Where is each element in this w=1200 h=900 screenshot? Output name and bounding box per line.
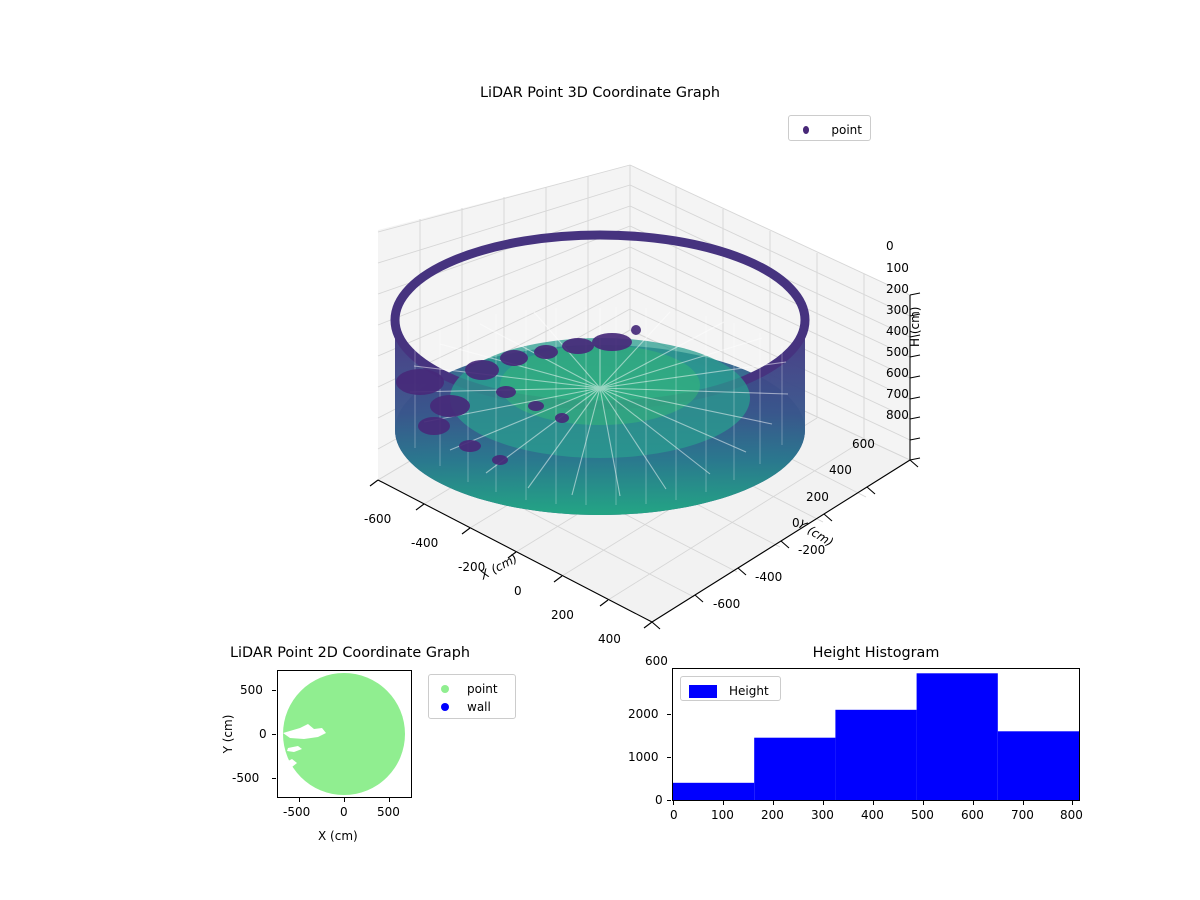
plot2d-xtick: -500: [283, 805, 310, 819]
plot3d-ytick: 600: [852, 437, 875, 451]
histogram-bar: [998, 731, 1079, 800]
plot2d-ytickmark: [272, 734, 276, 735]
histogram-title: Height Histogram: [672, 645, 1080, 661]
plot3d-htick: 700: [886, 387, 909, 401]
plot3d-xtick: -400: [411, 536, 438, 550]
histogram-bar: [917, 673, 998, 800]
histogram-xtick: 300: [811, 808, 834, 822]
plot2d-xtick: 500: [377, 805, 400, 819]
plot3d-htick: 200: [886, 282, 909, 296]
plot3d-xtick: 0: [514, 584, 522, 598]
plot2d-canvas: [278, 671, 411, 797]
plot2d-legend[interactable]: point wall: [428, 674, 516, 719]
plot2d-ytick: -500: [232, 771, 259, 785]
height-patch-icon: [689, 685, 717, 698]
histogram-xtickmark: [773, 801, 774, 805]
histogram-xtick: 200: [761, 808, 784, 822]
histogram-xtick: 600: [961, 808, 984, 822]
histogram-xtick: 500: [911, 808, 934, 822]
histogram-xtick: 0: [670, 808, 678, 822]
plot3d-canvas: [300, 130, 940, 630]
histogram-ytick: 2000: [628, 707, 659, 721]
histogram-ytickmark: [667, 757, 671, 758]
plot2d-xtickmark: [344, 798, 345, 802]
histogram-xtickmark: [723, 801, 724, 805]
histogram-legend[interactable]: Height: [680, 676, 781, 701]
plot3d-xtick: 200: [551, 608, 574, 622]
histogram-ytick: 0: [655, 793, 663, 807]
plot2d-title: LiDAR Point 2D Coordinate Graph: [205, 645, 495, 661]
plot2d-ylabel: Y (cm): [221, 709, 235, 759]
histogram-bar: [835, 710, 916, 800]
plot2d-xtick: 0: [340, 805, 348, 819]
matplotlib-figure: LiDAR Point 3D Coordinate Graph point: [0, 0, 1200, 900]
plot3d-ytick: -400: [755, 570, 782, 584]
plot3d-ytick: 400: [829, 463, 852, 477]
plot3d-htick: 300: [886, 303, 909, 317]
plot3d-ytick: -600: [713, 597, 740, 611]
plot3d-htick: 800: [886, 408, 909, 422]
histogram-xtickmark: [1023, 801, 1024, 805]
plot3d-xtick: 600: [645, 654, 668, 668]
histogram-xtick: 100: [711, 808, 734, 822]
plot3d-xtick: -600: [364, 512, 391, 526]
plot3d-htick: 100: [886, 261, 909, 275]
plot2d-ytick: 0: [259, 727, 267, 741]
plot3d-htick: 600: [886, 366, 909, 380]
plot3d-ytick: 200: [806, 490, 829, 504]
histogram-bar: [754, 738, 835, 800]
legend-item-wall: wall: [437, 698, 507, 716]
histogram-ytickmark: [667, 714, 671, 715]
plot2d-xlabel: X (cm): [318, 829, 358, 843]
point-marker-icon: [441, 685, 449, 693]
histogram-xtick: 700: [1011, 808, 1034, 822]
plot3d-xtick: 400: [598, 632, 621, 646]
legend-label: point: [467, 682, 498, 696]
histogram-xtick: 400: [861, 808, 884, 822]
plot3d-title: LiDAR Point 3D Coordinate Graph: [0, 85, 1200, 101]
plot2d-xtickmark: [299, 798, 300, 802]
histogram-xtickmark: [823, 801, 824, 805]
plot2d-axes[interactable]: [277, 670, 412, 798]
histogram-xtickmark: [973, 801, 974, 805]
legend-label: wall: [467, 700, 491, 714]
histogram-bar: [673, 783, 754, 800]
legend-label: Height: [729, 684, 769, 698]
plot3d-htick: 0: [886, 239, 894, 253]
histogram-xtickmark: [873, 801, 874, 805]
legend-item-point: point: [437, 680, 507, 698]
plot2d-xtickmark: [389, 798, 390, 802]
plot3d-axes[interactable]: [300, 130, 940, 630]
wall-marker-icon: [441, 703, 449, 711]
histogram-xtick: 800: [1060, 808, 1083, 822]
histogram-ytickmark: [667, 800, 671, 801]
legend-item-height: Height: [689, 682, 772, 700]
plot2d-ytickmark: [272, 690, 276, 691]
histogram-xtickmark: [1072, 801, 1073, 805]
plot3d-hlabel: H (cm): [908, 307, 922, 347]
histogram-xtickmark: [923, 801, 924, 805]
plot2d-ytickmark: [272, 778, 276, 779]
histogram-ytick: 1000: [628, 750, 659, 764]
plot3d-htick: 500: [886, 345, 909, 359]
histogram-xtickmark: [673, 801, 674, 805]
plot3d-htick: 400: [886, 324, 909, 338]
plot2d-ytick: 500: [240, 683, 263, 697]
